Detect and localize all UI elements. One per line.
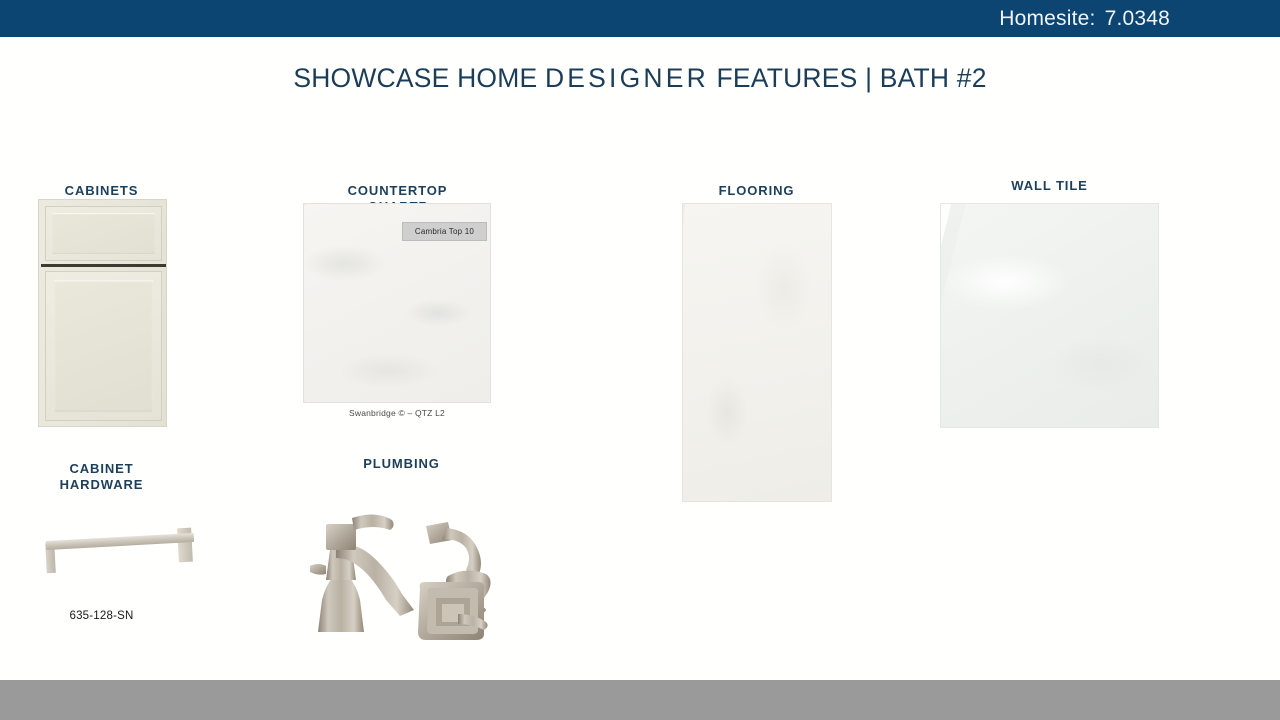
homesite-label: Homesite:	[999, 7, 1095, 30]
plumbing-fixtures-illustration	[296, 496, 510, 644]
section-label-cabinet-hardware: CABINET HARDWARE	[20, 461, 183, 493]
cabinet-pull-sample	[20, 500, 200, 580]
header-bar: Homesite:7.0348	[0, 0, 1280, 37]
hardware-label-line2: HARDWARE	[60, 477, 144, 492]
section-label-cabinets: CABINETS	[20, 183, 183, 199]
quartz-countertop-sample: Cambria Top 10	[303, 203, 491, 403]
plumbing-fixtures-sample	[296, 496, 510, 644]
flooring-tile-sample	[682, 203, 832, 502]
cabinet-divider	[41, 264, 166, 267]
quartz-caption: Swanbridge © – QTZ L2	[303, 408, 491, 418]
cabinet-drawer-front	[45, 206, 162, 261]
cabinet-door-front	[45, 271, 162, 421]
title-part-spaced: DESIGNER	[545, 63, 709, 93]
slide-page: Homesite:7.0348 SHOWCASE HOME DESIGNER F…	[0, 0, 1280, 720]
title-part-1: SHOWCASE HOME	[293, 63, 545, 93]
section-label-flooring: FLOORING	[675, 183, 838, 199]
footer-bar: ©2022. Prices, homesites, amenities, hom…	[0, 680, 1280, 720]
cabinet-pull-bar	[46, 533, 194, 550]
section-label-plumbing: PLUMBING	[320, 456, 483, 472]
homesite-value: 7.0348	[1105, 7, 1170, 30]
page-title: SHOWCASE HOME DESIGNER FEATURES | BATH #…	[0, 63, 1280, 94]
wall-tile-sample	[940, 203, 1159, 428]
title-part-2: FEATURES | BATH #2	[709, 63, 987, 93]
homesite-info: Homesite:7.0348	[999, 7, 1170, 31]
cabinet-pull-code: 635-128-SN	[20, 610, 183, 622]
hardware-label-line1: CABINET	[69, 461, 133, 476]
cabinet-door-sample	[38, 199, 167, 427]
countertop-label-line1: COUNTERTOP	[348, 183, 448, 198]
section-label-wall-tile: WALL TILE	[968, 178, 1131, 194]
quartz-tier-tag: Cambria Top 10	[402, 222, 487, 241]
